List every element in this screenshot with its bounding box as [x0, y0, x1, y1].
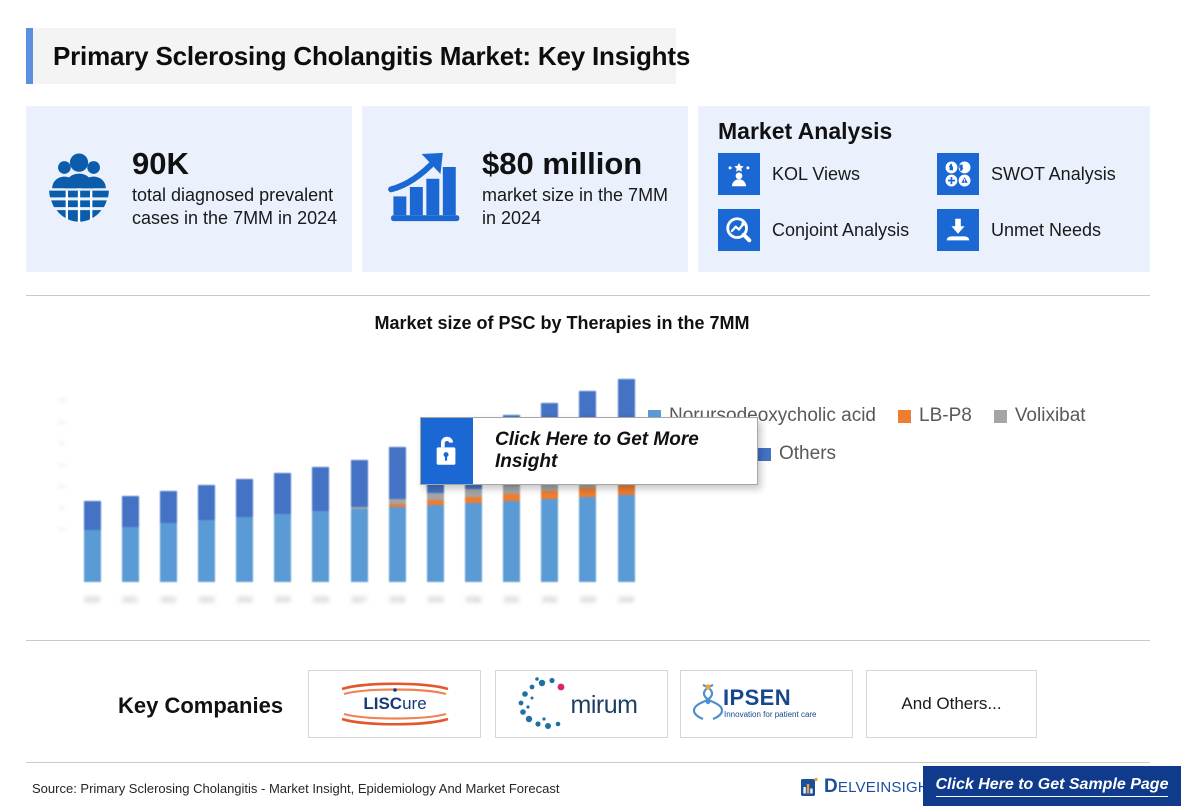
chart-bar-column: [378, 367, 416, 582]
chart-bar: [160, 491, 177, 582]
chart-bar-segment: [312, 467, 329, 511]
svg-text:mirum: mirum: [570, 691, 637, 719]
chart-x-axis-labels: 2020202120222023202420252026202720282029…: [73, 597, 645, 604]
market-analysis-label: KOL Views: [772, 164, 860, 185]
and-others-box: And Others...: [866, 670, 1037, 738]
chart-bar: [274, 473, 291, 582]
market-analysis-label: Unmet Needs: [991, 220, 1101, 241]
legend-item-volixibat[interactable]: Volixibat: [994, 405, 1086, 427]
market-analysis-item-conjoint-analysis[interactable]: Conjoint Analysis: [718, 209, 931, 251]
bar-chart: ——————— 20202021202220232024202520262027…: [45, 360, 645, 610]
get-sample-page-label: Click Here to Get Sample Page: [936, 776, 1169, 797]
chart-bar-segment: [503, 494, 520, 501]
chart-y-tick: —: [49, 463, 65, 469]
svg-text:LISCure: LISCure: [363, 694, 426, 713]
market-analysis-item-kol-views[interactable]: KOL Views: [718, 153, 931, 195]
chart-bar-segment: [84, 530, 101, 582]
liscure-logo[interactable]: LISCure: [308, 670, 481, 738]
chart-bar-column: [226, 367, 264, 582]
chart-y-tick: —: [49, 506, 65, 512]
chart-x-tick: 2021: [111, 597, 149, 604]
chart-bar-column: [187, 367, 225, 582]
legend-label: Volixibat: [1015, 405, 1086, 427]
chart-bar-segment: [274, 514, 291, 582]
page-title: Primary Sclerosing Cholangitis Market: K…: [33, 41, 690, 72]
chart-bar-segment: [122, 527, 139, 582]
market-analysis-label: Conjoint Analysis: [772, 220, 909, 241]
delveinsight-initial: D: [824, 776, 838, 797]
chart-bar-segment: [351, 460, 368, 507]
market-size-value: $80 million: [482, 148, 674, 181]
market-analysis-item-swot-analysis[interactable]: SWOT Analysis: [937, 153, 1150, 195]
delveinsight-wordmark: DELVEINSIGHT: [824, 776, 938, 798]
chart-bar-segment: [160, 523, 177, 582]
page-title-bar: Primary Sclerosing Cholangitis Market: K…: [26, 28, 676, 84]
stat-card-market-size: $80 million market size in the 7MM in 20…: [362, 106, 688, 272]
chart-x-tick: 2032: [531, 597, 569, 604]
chart-y-tick: —: [49, 484, 65, 490]
chart-bar-segment: [312, 511, 329, 582]
chart-x-tick: 2024: [226, 597, 264, 604]
legend-item-others[interactable]: Others: [758, 443, 836, 465]
stat-card-prevalence: 90K total diagnosed prevalent cases in t…: [26, 106, 352, 272]
chart-bar-column: [111, 367, 149, 582]
get-more-insight-cta[interactable]: Click Here to Get More Insight: [420, 417, 758, 485]
people-globe-icon: [40, 148, 118, 231]
infographic-page: Primary Sclerosing Cholangitis Market: K…: [0, 0, 1200, 810]
source-text: Source: Primary Sclerosing Cholangitis -…: [32, 781, 559, 796]
swot-quadrant-icon: [937, 153, 979, 195]
chart-bar-segment: [160, 491, 177, 523]
chart-bar: [198, 485, 215, 582]
chart-x-tick: 2034: [607, 597, 645, 604]
delveinsight-logo: DELVEINSIGHT: [800, 775, 938, 799]
chart-y-tick: —: [49, 420, 65, 426]
chart-bar-segment: [465, 489, 482, 497]
legend-swatch: [898, 410, 911, 423]
get-sample-page-button[interactable]: Click Here to Get Sample Page: [923, 766, 1181, 806]
chart-bar: [389, 447, 406, 582]
legend-label: LB-P8: [919, 405, 972, 427]
market-analysis-label: SWOT Analysis: [991, 164, 1116, 185]
market-analysis-card: Market Analysis KOL Views: [698, 106, 1150, 272]
chart-x-tick: 2028: [378, 597, 416, 604]
legend-swatch: [758, 448, 771, 461]
chart-bar-segment: [84, 501, 101, 529]
chart-bar-segment: [579, 497, 596, 582]
svg-text:IPSEN: IPSEN: [723, 685, 791, 710]
chart-x-tick: 2020: [73, 597, 111, 604]
legend-item-lb-p8[interactable]: LB-P8: [898, 405, 972, 427]
chart-bar: [122, 496, 139, 582]
chart-bar-segment: [618, 495, 635, 582]
chart-bar: [312, 467, 329, 582]
chart-x-tick: 2031: [493, 597, 531, 604]
divider-bottom: [26, 762, 1150, 763]
chart-bar-segment: [465, 503, 482, 582]
divider-top: [26, 295, 1150, 296]
market-analysis-item-unmet-needs[interactable]: Unmet Needs: [937, 209, 1150, 251]
chart-x-tick: 2022: [149, 597, 187, 604]
chart-bar-segment: [198, 520, 215, 582]
market-analysis-title: Market Analysis: [718, 118, 1150, 145]
chart-bar-segment: [236, 517, 253, 582]
chart-bar-column: [340, 367, 378, 582]
chart-bar-segment: [351, 509, 368, 582]
key-companies-label: Key Companies: [118, 693, 283, 719]
conjoint-magnifier-icon: [718, 209, 760, 251]
chart-bar-segment: [541, 499, 558, 582]
chart-y-axis: ———————: [49, 398, 65, 533]
chart-y-tick: —: [49, 527, 65, 533]
chart-bar-segment: [198, 485, 215, 520]
legend-label: Others: [779, 443, 836, 465]
delveinsight-mark: [800, 775, 822, 799]
chart-bar-segment: [236, 479, 253, 517]
chart-x-tick: 2027: [340, 597, 378, 604]
chart-x-tick: 2023: [187, 597, 225, 604]
chart-y-tick: —: [49, 398, 65, 404]
ipsen-logo[interactable]: IPSEN Innovation for patient care: [680, 670, 853, 738]
svg-text:Innovation for patient care: Innovation for patient care: [724, 710, 817, 719]
chart-x-tick: 2025: [264, 597, 302, 604]
chart-bar-segment: [427, 493, 444, 500]
growth-bar-chart-arrow-icon: [384, 148, 464, 231]
open-lock-icon: [421, 418, 473, 484]
chart-bar-segment: [122, 496, 139, 526]
chart-bar-segment: [541, 491, 558, 499]
unmet-needs-hand-download-icon: [937, 209, 979, 251]
divider-middle: [26, 640, 1150, 641]
cta-label: Click Here to Get More Insight: [473, 429, 757, 473]
kol-person-star-icon: [718, 153, 760, 195]
chart-bar-column: [264, 367, 302, 582]
chart-x-tick: 2030: [454, 597, 492, 604]
legend-swatch: [994, 410, 1007, 423]
chart-bar-segment: [503, 501, 520, 582]
chart-bar: [236, 479, 253, 582]
prevalence-description: total diagnosed prevalent cases in the 7…: [132, 184, 338, 230]
chart-bar: [351, 460, 368, 582]
chart-title: Market size of PSC by Therapies in the 7…: [0, 313, 1124, 334]
chart-bar-column: [73, 367, 111, 582]
market-size-description: market size in the 7MM in 2024: [482, 184, 674, 230]
chart-bar-segment: [503, 485, 520, 494]
and-others-label: And Others...: [901, 694, 1001, 714]
chart-y-tick: —: [49, 441, 65, 447]
prevalence-value: 90K: [132, 148, 338, 181]
chart-bar-column: [149, 367, 187, 582]
chart-x-tick: 2029: [416, 597, 454, 604]
chart-bar-segment: [389, 447, 406, 499]
chart-x-tick: 2033: [569, 597, 607, 604]
chart-bar-segment: [618, 485, 635, 495]
chart-bar-column: [302, 367, 340, 582]
title-accent-bar: [26, 28, 33, 84]
chart-bar: [84, 501, 101, 582]
chart-bar-segment: [579, 488, 596, 497]
chart-bar-segment: [274, 473, 291, 514]
chart-x-tick: 2026: [302, 597, 340, 604]
mirum-logo[interactable]: mirum: [495, 670, 668, 738]
chart-bar-segment: [389, 507, 406, 582]
chart-bar-segment: [427, 505, 444, 582]
